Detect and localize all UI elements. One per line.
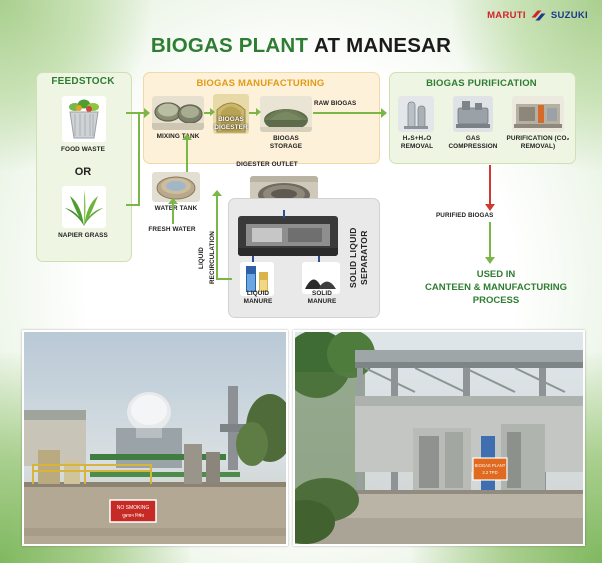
feedstock-title: FEEDSTOCK — [36, 76, 130, 87]
biogas-manufacturing-title: BIOGAS MANUFACTURING — [143, 78, 378, 89]
arrow-head-water-to-mixing — [182, 134, 192, 140]
arrow-separator-to-liquid — [252, 256, 254, 262]
feedstock-item-label-napier-grass: NAPIER GRASS — [36, 232, 130, 240]
arrow-separator-to-solid — [318, 256, 320, 262]
food-waste-bin-icon — [62, 96, 106, 142]
arrow-head-storage — [256, 108, 261, 116]
arrow-head-foodwaste — [144, 108, 150, 118]
arrow-head-fresh-water — [168, 198, 178, 204]
brand-maruti-label: MARUTI — [487, 10, 526, 21]
arrow-head-purified-green — [485, 257, 495, 264]
solid-liquid-separator-title: SOLID LIQUID SEPARATOR — [348, 210, 370, 306]
suzuki-s-logo-icon — [531, 10, 546, 21]
biogas-purification-title: BIOGAS PURIFICATION — [389, 78, 574, 89]
usage-line-2: CANTEEN & MANUFACTURING — [412, 281, 580, 294]
water-tank-label: WATER TANK — [144, 205, 208, 213]
separator-output-label-solid-manure: SOLID MANURE — [298, 290, 346, 306]
poster-canvas: MARUTI SUZUKI BIOGAS PLANT AT MANESAR FE… — [0, 0, 602, 563]
svg-text:धूम्रपान निषेध: धूम्रपान निषेध — [122, 512, 144, 519]
arrow-purified-green — [489, 222, 491, 260]
brand-suzuki-label: SUZUKI — [551, 10, 588, 21]
arrow-raw-biogas — [313, 112, 385, 114]
arrow-grass-seg2 — [138, 114, 140, 206]
separator-machine-icon — [238, 216, 338, 256]
feedstock-or-label: OR — [36, 166, 130, 178]
manufacturing-item-label-biogas-storage: BIOGAS STORAGE — [258, 135, 314, 151]
flow-label-liquid-recirculation: LIQUID RECIRCULATION — [196, 228, 218, 288]
arrow-head-purified-red — [485, 204, 495, 211]
arrow-purified-red — [489, 165, 491, 207]
usage-line-1: USED IN — [412, 268, 580, 281]
arrow-head-digester — [210, 108, 215, 116]
separator-output-label-liquid-manure: LIQUID MANURE — [232, 290, 284, 306]
arrow-liquid-recirculation-horizontal — [216, 278, 232, 280]
page-title-green: BIOGAS PLANT — [151, 34, 308, 57]
page-title: BIOGAS PLANT AT MANESAR — [0, 34, 602, 58]
svg-text:BIOGAS PLANT: BIOGAS PLANT — [475, 463, 506, 468]
purification-item-label-co2-removal: PURIFICATION (CO₂ REMOVAL) — [505, 135, 571, 151]
h2s-h2o-removal-icon — [398, 96, 434, 132]
arrow-head-raw-biogas — [381, 108, 387, 118]
purification-item-label-gas-compression: GAS COMPRESSION — [446, 135, 500, 151]
biogas-storage-dome-icon — [260, 96, 312, 132]
arrow-outlet-to-separator — [283, 210, 285, 218]
digester-outlet-label: DIGESTER OUTLET — [236, 161, 298, 169]
mixing-tank-icon — [152, 96, 204, 130]
manufacturing-item-label-biogas-digester: BIOGAS DIGESTER — [209, 116, 253, 132]
usage-note: USED IN CANTEEN & MANUFACTURING PROCESS — [412, 268, 580, 307]
manufacturing-item-label-mixing-tank: MIXING TANK — [146, 133, 210, 141]
arrow-fresh-water — [172, 202, 174, 224]
svg-text:NO SMOKING: NO SMOKING — [117, 505, 150, 511]
flow-label-purified-biogas: PURIFIED BIOGAS — [436, 212, 493, 219]
brand-logo: MARUTI SUZUKI — [487, 10, 588, 21]
biogas-plant-photo-left: NO SMOKING धूम्रपान निषेध — [22, 330, 288, 546]
feedstock-item-label-food-waste: FOOD WASTE — [36, 146, 130, 154]
grass-icon — [62, 186, 106, 228]
co2-purification-skid-icon — [512, 96, 564, 132]
arrow-head-liquid-recirculation — [212, 190, 222, 196]
flow-label-raw-biogas: RAW BIOGAS — [314, 100, 356, 107]
usage-line-3: PROCESS — [412, 294, 580, 307]
arrow-water-to-mixing — [186, 140, 188, 172]
biogas-plant-photo-right: BIOGAS PLANT 2.2 TPD — [293, 330, 585, 546]
page-title-dark: AT MANESAR — [314, 34, 451, 57]
flow-label-fresh-water: FRESH WATER — [140, 226, 204, 234]
purification-item-label-h2s-h2o: H₂S+H₂O REMOVAL — [390, 135, 444, 151]
arrow-foodwaste-to-mixing — [126, 112, 146, 114]
svg-text:2.2 TPD: 2.2 TPD — [482, 470, 497, 475]
gas-compressor-icon — [453, 96, 493, 132]
